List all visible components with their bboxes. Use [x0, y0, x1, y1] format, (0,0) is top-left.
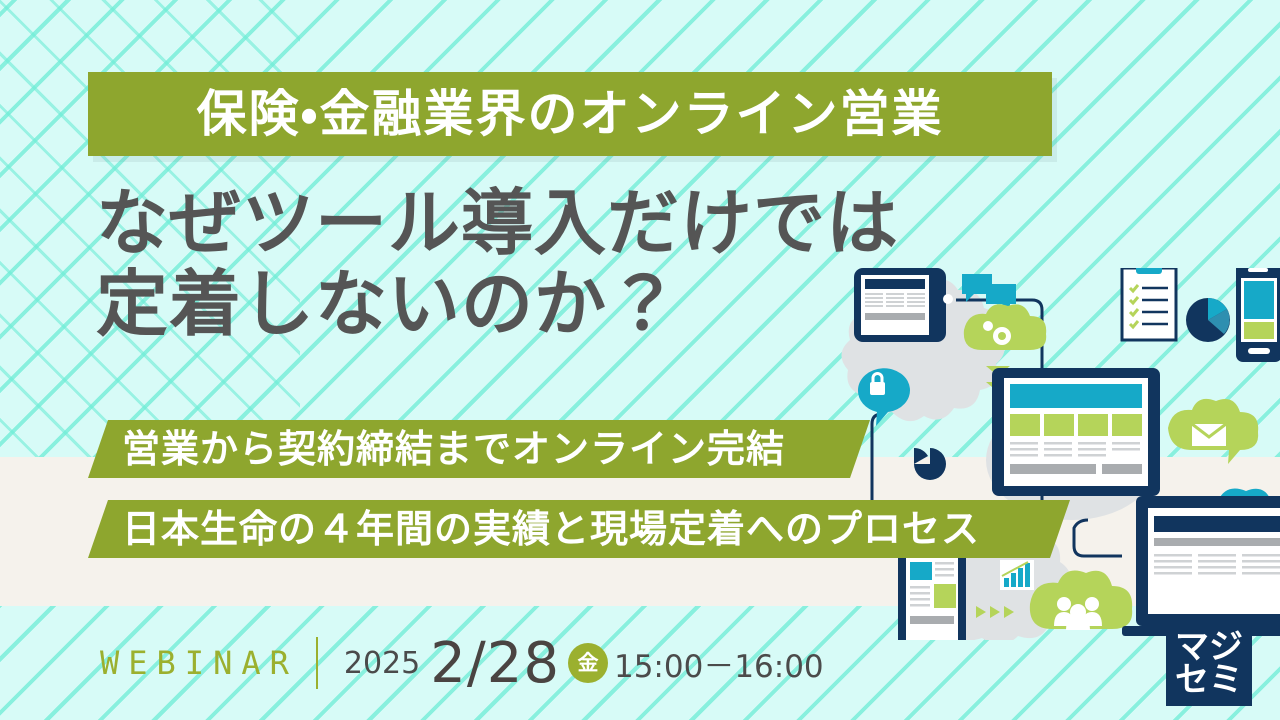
smartphone-bottom: [898, 546, 966, 640]
subtitle-ribbon-2: 日本生命の４年間の実績と現場定着へのプロセス: [88, 500, 1070, 558]
footer-divider: [316, 637, 318, 689]
pie-chart: [1186, 298, 1230, 342]
footer-schedule: WEBINAR 2025 2/28 金 15:00－16:00: [100, 632, 824, 694]
page-title: なぜツール導入だけでは 定着しないのか？: [96, 183, 886, 344]
cloud-mail: [1168, 399, 1258, 464]
event-time: 15:00－16:00: [614, 641, 824, 686]
subtitle-ribbon-1-label: 営業から契約締結までオンライン完結: [122, 430, 785, 468]
logo-line-2: セミ: [1175, 660, 1243, 700]
subtitle-ribbon-2-label: 日本生命の４年間の実績と現場定着へのプロセス: [122, 510, 980, 548]
title-line-2: 定着しないのか？: [96, 264, 886, 345]
title-line-1: なぜツール導入だけでは: [96, 183, 886, 264]
weekday-badge: 金: [568, 643, 608, 683]
header-banner-bar: 保険・金融業界のオンライン営業: [88, 72, 1052, 156]
weekday-label: 金: [577, 653, 598, 674]
webinar-banner: 保険・金融業界のオンライン営業 なぜツール導入だけでは 定着しないのか？ 営業か…: [0, 0, 1280, 720]
laptop-device: [1122, 496, 1280, 636]
illustration-group: [836, 268, 1280, 640]
header-label: 保険・金融業界のオンライン営業: [197, 89, 944, 139]
event-year: 2025: [344, 646, 420, 681]
pie-chart-small: [914, 448, 946, 480]
majiseminar-logo: マジセミ: [1166, 622, 1252, 706]
tablet-main: [992, 368, 1160, 496]
bar-chart-small: [1000, 560, 1034, 590]
smartphone-device: [1236, 268, 1280, 362]
clipboard-checklist: [1122, 268, 1176, 340]
subtitle-ribbon-1: 営業から契約締結までオンライン完結: [88, 420, 870, 478]
event-date: 2/28: [430, 631, 560, 696]
logo-text: マジセミ: [1175, 631, 1243, 698]
webinar-label: WEBINAR: [100, 644, 298, 682]
